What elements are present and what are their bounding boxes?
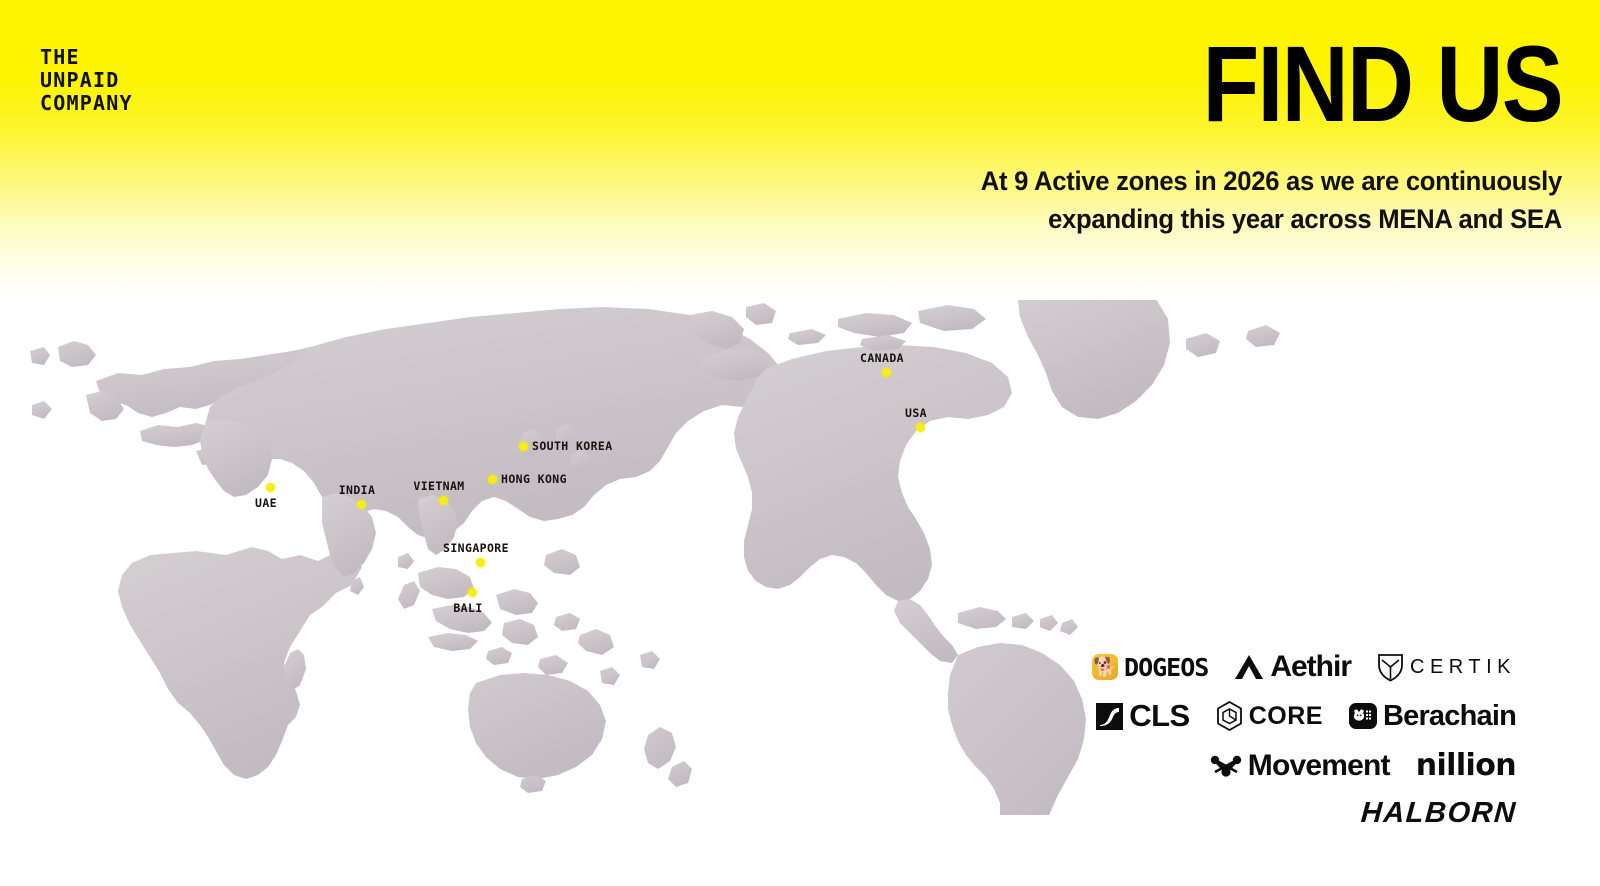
partner-logo-cls[interactable]: CLS xyxy=(1096,698,1190,734)
partner-label: Aethir xyxy=(1270,650,1351,684)
map-pin-label: USA xyxy=(905,406,927,420)
partner-label: Berachain xyxy=(1383,700,1516,733)
partner-logo-row: CLS CORE xyxy=(1096,698,1516,734)
certik-shield-icon xyxy=(1377,652,1404,682)
movement-glyph-icon xyxy=(1210,753,1242,779)
map-pin-label: CANADA xyxy=(860,351,904,365)
partner-label: nillion xyxy=(1416,748,1516,783)
partner-logo-halborn[interactable]: HALBORN xyxy=(1361,797,1517,830)
partner-logo-berachain[interactable]: Berachain xyxy=(1349,700,1516,733)
partner-logo-dogeos[interactable]: 🐕 DOGEOS xyxy=(1092,653,1208,682)
partner-label: CERTIK xyxy=(1410,656,1516,679)
map-pin-dot-icon xyxy=(882,368,891,377)
map-pin-label: SINGAPORE xyxy=(443,541,509,555)
page-title: FIND US xyxy=(1203,32,1562,136)
berachain-bear-icon xyxy=(1349,703,1377,729)
map-pin-label: VIETNAM xyxy=(413,479,464,493)
partner-logo-core[interactable]: CORE xyxy=(1216,701,1323,731)
partner-logo-nillion[interactable]: nillion xyxy=(1416,748,1516,783)
partner-logo-row: HALBORN xyxy=(1361,797,1517,830)
map-pin-dot-icon xyxy=(519,442,528,451)
partner-logo-grid: 🐕 DOGEOS Aethir CERTIK xyxy=(1092,650,1516,830)
map-pin-label: INDIA xyxy=(339,483,376,497)
partner-label: HALBORN xyxy=(1359,797,1517,830)
doge-badge-icon: 🐕 xyxy=(1092,654,1118,680)
map-pin-label: UAE xyxy=(255,496,277,510)
brand-logo-line-1: THE xyxy=(40,46,133,69)
partner-label: DOGEOS xyxy=(1124,653,1208,682)
brand-logo[interactable]: THE UNPAID COMPANY xyxy=(40,46,133,115)
map-pin-dot-icon xyxy=(357,500,366,509)
map-pin-label: SOUTH KOREA xyxy=(532,439,613,453)
map-pin-label: BALI xyxy=(453,601,482,615)
page-subtitle: At 9 Active zones in 2026 as we are cont… xyxy=(859,162,1562,238)
map-pin-dot-icon xyxy=(266,483,275,492)
aethir-triangle-icon xyxy=(1234,653,1264,681)
map-pin-label: HONG KONG xyxy=(501,472,567,486)
partner-logo-row: Movement nillion xyxy=(1210,748,1516,783)
partner-logo-certik[interactable]: CERTIK xyxy=(1377,652,1516,682)
core-hexagon-icon xyxy=(1216,701,1243,731)
brand-logo-line-3: COMPANY xyxy=(40,92,133,115)
map-pin-dot-icon xyxy=(916,423,925,432)
map-pin-dot-icon xyxy=(476,558,485,567)
partner-logo-aethir[interactable]: Aethir xyxy=(1234,650,1351,684)
partner-logo-row: 🐕 DOGEOS Aethir CERTIK xyxy=(1092,650,1516,684)
map-pin-dot-icon xyxy=(488,475,497,484)
brand-logo-line-2: UNPAID xyxy=(40,69,133,92)
cls-square-icon xyxy=(1096,703,1123,730)
partner-label: CORE xyxy=(1249,702,1323,731)
partner-logo-movement[interactable]: Movement xyxy=(1210,749,1390,783)
partner-label: Movement xyxy=(1248,749,1390,783)
map-pin-dot-icon xyxy=(468,588,477,597)
map-pin-dot-icon xyxy=(439,496,448,505)
partner-label: CLS xyxy=(1129,698,1190,734)
